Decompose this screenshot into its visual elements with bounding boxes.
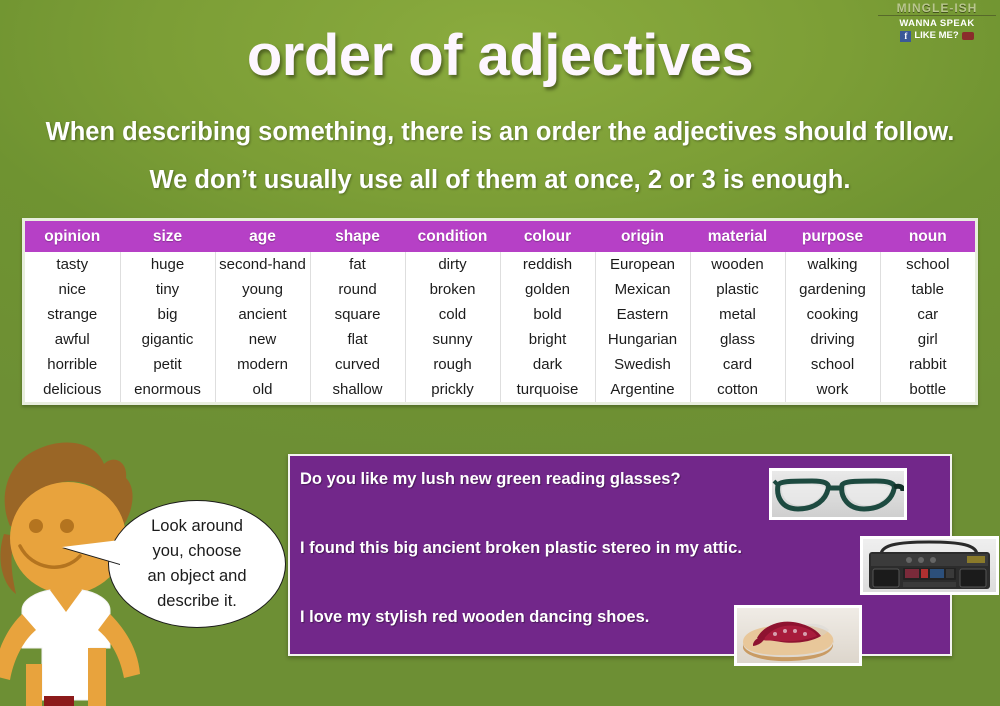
bubble-line-3: an object and: [147, 567, 246, 585]
logo-brand-text: MINGLE-ISH: [878, 2, 996, 16]
table-row: horrible petit modern curved rough dark …: [25, 352, 975, 377]
column-header-origin: origin: [595, 221, 690, 252]
table-cell: broken: [405, 277, 500, 302]
column-header-purpose: purpose: [785, 221, 880, 252]
table-cell: fat: [310, 252, 405, 277]
column-header-noun: noun: [880, 221, 975, 252]
right-leg: [88, 648, 106, 706]
table-cell: school: [785, 352, 880, 377]
table-cell: dark: [500, 352, 595, 377]
table-row: tasty huge second-hand fat dirty reddish…: [25, 252, 975, 277]
table-cell: dirty: [405, 252, 500, 277]
table-cell: strange: [25, 302, 120, 327]
table-cell: European: [595, 252, 690, 277]
table-cell: bold: [500, 302, 595, 327]
example-sentence-1: Do you like my lush new green reading gl…: [300, 470, 681, 489]
table-cell: Eastern: [595, 302, 690, 327]
table-cell: shallow: [310, 377, 405, 402]
table-cell: tiny: [120, 277, 215, 302]
table-cell: cold: [405, 302, 500, 327]
table-cell: curved: [310, 352, 405, 377]
slide-canvas: MINGLE-ISH WANNA SPEAK f LIKE ME? order …: [0, 0, 1000, 706]
table-cell: Hungarian: [595, 327, 690, 352]
table-cell: bottle: [880, 377, 975, 402]
table-cell: modern: [215, 352, 310, 377]
table-header: opinion size age shape condition colour …: [25, 221, 975, 252]
table-cell: Argentine: [595, 377, 690, 402]
table-cell: rabbit: [880, 352, 975, 377]
table-cell: flat: [310, 327, 405, 352]
table-cell: walking: [785, 252, 880, 277]
table-cell: gigantic: [120, 327, 215, 352]
table-cell: tasty: [25, 252, 120, 277]
table-body: tasty huge second-hand fat dirty reddish…: [25, 252, 975, 402]
red-wooden-shoes-image: [734, 605, 862, 666]
table-cell: old: [215, 377, 310, 402]
speech-bubble: Look around you, choose an object and de…: [108, 500, 286, 628]
bubble-line-4: describe it.: [157, 592, 237, 610]
table-cell: golden: [500, 277, 595, 302]
table-cell: second-hand: [215, 252, 310, 277]
table-cell: awful: [25, 327, 120, 352]
adjective-order-table-container: opinion size age shape condition colour …: [22, 218, 978, 405]
left-eye: [29, 519, 43, 533]
table-cell: card: [690, 352, 785, 377]
table-cell: girl: [880, 327, 975, 352]
table-header-row: opinion size age shape condition colour …: [25, 221, 975, 252]
column-header-size: size: [120, 221, 215, 252]
page-title: order of adjectives: [0, 22, 1000, 89]
table-cell: bright: [500, 327, 595, 352]
column-header-age: age: [215, 221, 310, 252]
table-row: strange big ancient square cold bold Eas…: [25, 302, 975, 327]
table-cell: school: [880, 252, 975, 277]
left-leg: [26, 664, 42, 706]
table-cell: huge: [120, 252, 215, 277]
column-header-shape: shape: [310, 221, 405, 252]
example-sentence-3: I love my stylish red wooden dancing sho…: [300, 608, 649, 627]
column-header-condition: condition: [405, 221, 500, 252]
table-cell: big: [120, 302, 215, 327]
table-cell: Swedish: [595, 352, 690, 377]
table-cell: rough: [405, 352, 500, 377]
table-cell: table: [880, 277, 975, 302]
table-cell: wooden: [690, 252, 785, 277]
right-eye: [60, 519, 74, 533]
table-cell: horrible: [25, 352, 120, 377]
shorts: [44, 696, 74, 706]
bubble-line-1: Look around: [151, 517, 243, 535]
table-cell: new: [215, 327, 310, 352]
stereo-boombox-image: [860, 536, 999, 595]
example-sentences-box: Do you like my lush new green reading gl…: [288, 454, 952, 656]
table-cell: young: [215, 277, 310, 302]
table-row: awful gigantic new flat sunny bright Hun…: [25, 327, 975, 352]
table-cell: driving: [785, 327, 880, 352]
example-sentence-2: I found this big ancient broken plastic …: [300, 539, 742, 558]
table-cell: round: [310, 277, 405, 302]
table-cell: square: [310, 302, 405, 327]
table-row: delicious enormous old shallow prickly t…: [25, 377, 975, 402]
adjective-order-table: opinion size age shape condition colour …: [25, 221, 975, 402]
table-row: nice tiny young round broken golden Mexi…: [25, 277, 975, 302]
table-cell: cotton: [690, 377, 785, 402]
table-cell: prickly: [405, 377, 500, 402]
table-cell: cooking: [785, 302, 880, 327]
table-cell: delicious: [25, 377, 120, 402]
bubble-line-2: you, choose: [153, 542, 242, 560]
column-header-material: material: [690, 221, 785, 252]
table-cell: glass: [690, 327, 785, 352]
table-cell: turquoise: [500, 377, 595, 402]
table-cell: work: [785, 377, 880, 402]
table-cell: sunny: [405, 327, 500, 352]
table-cell: nice: [25, 277, 120, 302]
table-cell: reddish: [500, 252, 595, 277]
face-shape: [10, 482, 126, 594]
table-cell: gardening: [785, 277, 880, 302]
speech-bubble-text: Look around you, choose an object and de…: [135, 514, 258, 614]
table-cell: enormous: [120, 377, 215, 402]
speech-bubble-tail: [62, 540, 120, 564]
table-cell: Mexican: [595, 277, 690, 302]
table-cell: car: [880, 302, 975, 327]
table-cell: metal: [690, 302, 785, 327]
page-subtitle: When describing something, there is an o…: [38, 108, 962, 204]
column-header-opinion: opinion: [25, 221, 120, 252]
table-cell: plastic: [690, 277, 785, 302]
column-header-colour: colour: [500, 221, 595, 252]
table-cell: petit: [120, 352, 215, 377]
reading-glasses-image: [769, 468, 907, 520]
table-cell: ancient: [215, 302, 310, 327]
